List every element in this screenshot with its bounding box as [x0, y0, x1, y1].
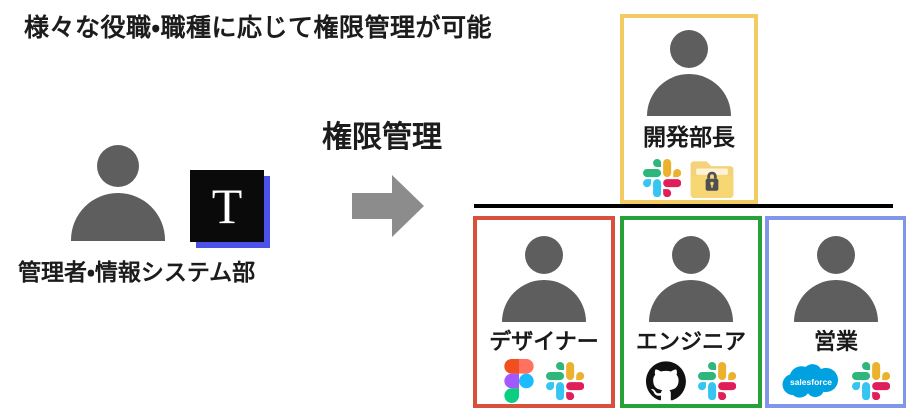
- role-card-label: デザイナー: [477, 324, 611, 356]
- page-title: 様々な役職・職種に応じて権限管理が可能: [24, 8, 492, 44]
- role-card-label: 営業: [769, 324, 903, 356]
- slack-icon: [698, 362, 736, 405]
- role-card-apps: salesforce: [769, 360, 903, 406]
- slide-canvas: 様々な役職・職種に応じて権限管理が可能 T 管理者・情報システム部 権限管理: [0, 0, 906, 413]
- role-card-apps: [624, 158, 754, 202]
- right-arrow-icon: [352, 175, 424, 237]
- role-card-designer[interactable]: デザイナー: [473, 216, 615, 408]
- person-icon: [67, 145, 167, 240]
- role-card-engineer[interactable]: エンジニア: [620, 216, 762, 408]
- person-body: [794, 280, 878, 322]
- role-card-apps: [477, 360, 611, 406]
- person-icon: [790, 236, 882, 322]
- person-body: [502, 280, 586, 322]
- role-card-manager[interactable]: 開発部長: [620, 14, 758, 204]
- person-body: [647, 74, 731, 116]
- admin-block: T 管理者・情報システム部: [10, 145, 320, 245]
- slack-icon: [643, 159, 681, 202]
- role-card-label: エンジニア: [624, 324, 758, 356]
- admin-icon-row: T: [10, 145, 320, 245]
- hierarchy-divider-line: [474, 204, 893, 208]
- role-card-label: 開発部長: [624, 118, 754, 152]
- person-icon: [645, 236, 737, 322]
- slack-icon: [546, 362, 584, 405]
- github-icon: [646, 361, 686, 406]
- person-icon: [498, 236, 590, 322]
- person-head: [817, 236, 855, 274]
- role-card-sales[interactable]: 営業 salesforce: [765, 216, 906, 408]
- figma-icon: [504, 359, 534, 408]
- salesforce-icon: salesforce: [782, 360, 840, 407]
- person-head: [97, 145, 139, 187]
- person-head: [670, 30, 708, 68]
- t-logo: T: [190, 170, 270, 248]
- locked-folder-icon: [689, 158, 735, 203]
- role-card-apps: [624, 360, 758, 406]
- t-logo-letter: T: [212, 181, 243, 231]
- person-head: [672, 236, 710, 274]
- person-head: [525, 236, 563, 274]
- person-icon: [643, 30, 735, 116]
- slack-icon: [852, 362, 890, 405]
- flow-label: 権限管理: [322, 112, 442, 156]
- person-body: [649, 280, 733, 322]
- t-logo-tile: T: [190, 170, 264, 242]
- salesforce-wordmark: salesforce: [790, 377, 832, 387]
- admin-label: 管理者・情報システム部: [18, 253, 255, 287]
- person-body: [71, 193, 165, 241]
